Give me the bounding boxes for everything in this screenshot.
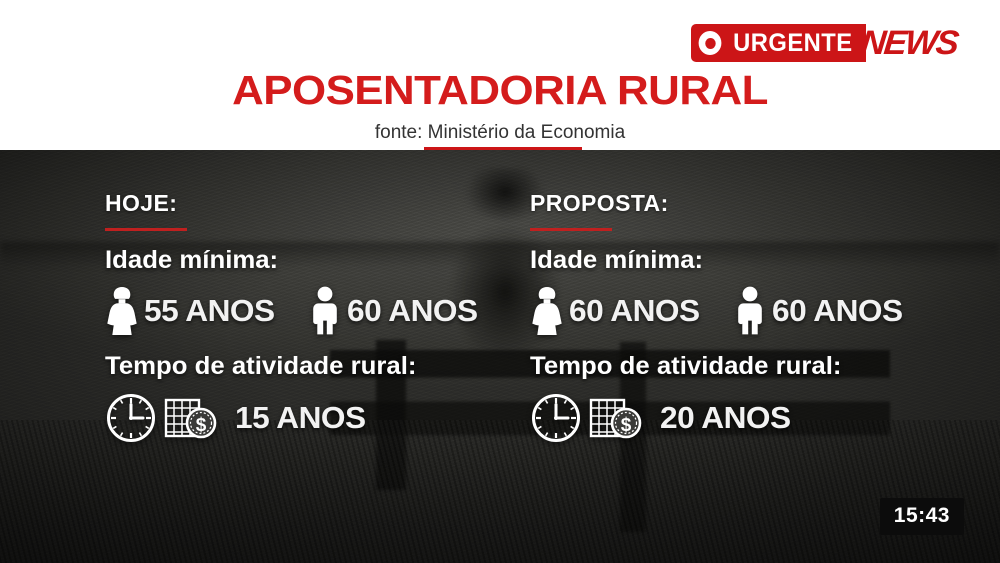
money-icon: $ (588, 392, 644, 444)
time-value: 15 ANOS (235, 400, 366, 436)
content-stage: HOJE: Idade mínima: 55 ANOS (0, 150, 1000, 563)
column-proposta: PROPOSTA: Idade mínima: 60 ANOS (530, 192, 960, 444)
age-value: 55 ANOS (144, 293, 275, 329)
money-icon: $ (163, 392, 219, 444)
age-label: Idade mínima: (105, 247, 548, 275)
source-underline (424, 147, 582, 150)
column-underline (530, 228, 612, 231)
age-item-female: 60 ANOS (530, 285, 697, 337)
age-row: 60 ANOS 60 ANOS (530, 285, 960, 337)
age-label: Idade mínima: (530, 247, 973, 275)
male-person-icon (733, 285, 767, 337)
globo-circle-icon (699, 31, 722, 55)
network-logo: URGENTE NEWS (691, 24, 956, 62)
male-person-icon (308, 285, 342, 337)
clock-icon (530, 392, 582, 444)
time-label: Tempo de atividade rural: (105, 353, 548, 381)
column-title: HOJE: (105, 192, 535, 215)
time-label: Tempo de atividade rural: (530, 353, 973, 381)
female-person-icon (105, 285, 139, 337)
time-row: $ 20 ANOS (530, 392, 960, 444)
broadcast-graphic: URGENTE NEWS APOSENTADORIA RURAL fonte: … (0, 0, 1000, 563)
clock-badge: 15:43 (880, 498, 964, 535)
column-hoje: HOJE: Idade mínima: 55 ANOS (105, 192, 535, 444)
age-row: 55 ANOS 60 ANOS (105, 285, 535, 337)
age-item-female: 55 ANOS (105, 285, 272, 337)
female-person-icon (530, 285, 564, 337)
page-title: APOSENTADORIA RURAL (0, 70, 1000, 111)
svg-text:$: $ (196, 415, 207, 436)
age-item-male: 60 ANOS (308, 285, 475, 337)
clock-icon (105, 392, 157, 444)
urgente-badge: URGENTE (691, 24, 866, 62)
column-underline (105, 228, 187, 231)
time-row: $ 15 ANOS (105, 392, 535, 444)
time-value: 20 ANOS (660, 400, 791, 436)
age-item-male: 60 ANOS (733, 285, 900, 337)
urgente-label: URGENTE (733, 31, 852, 56)
age-value: 60 ANOS (347, 293, 478, 329)
age-value: 60 ANOS (772, 293, 903, 329)
svg-text:$: $ (621, 415, 632, 436)
source-credit: fonte: Ministério da Economia (0, 122, 1000, 144)
age-value: 60 ANOS (569, 293, 700, 329)
news-wordmark: NEWS (859, 24, 959, 62)
column-title: PROPOSTA: (530, 192, 960, 215)
header-bar: URGENTE NEWS APOSENTADORIA RURAL fonte: … (0, 0, 1000, 150)
